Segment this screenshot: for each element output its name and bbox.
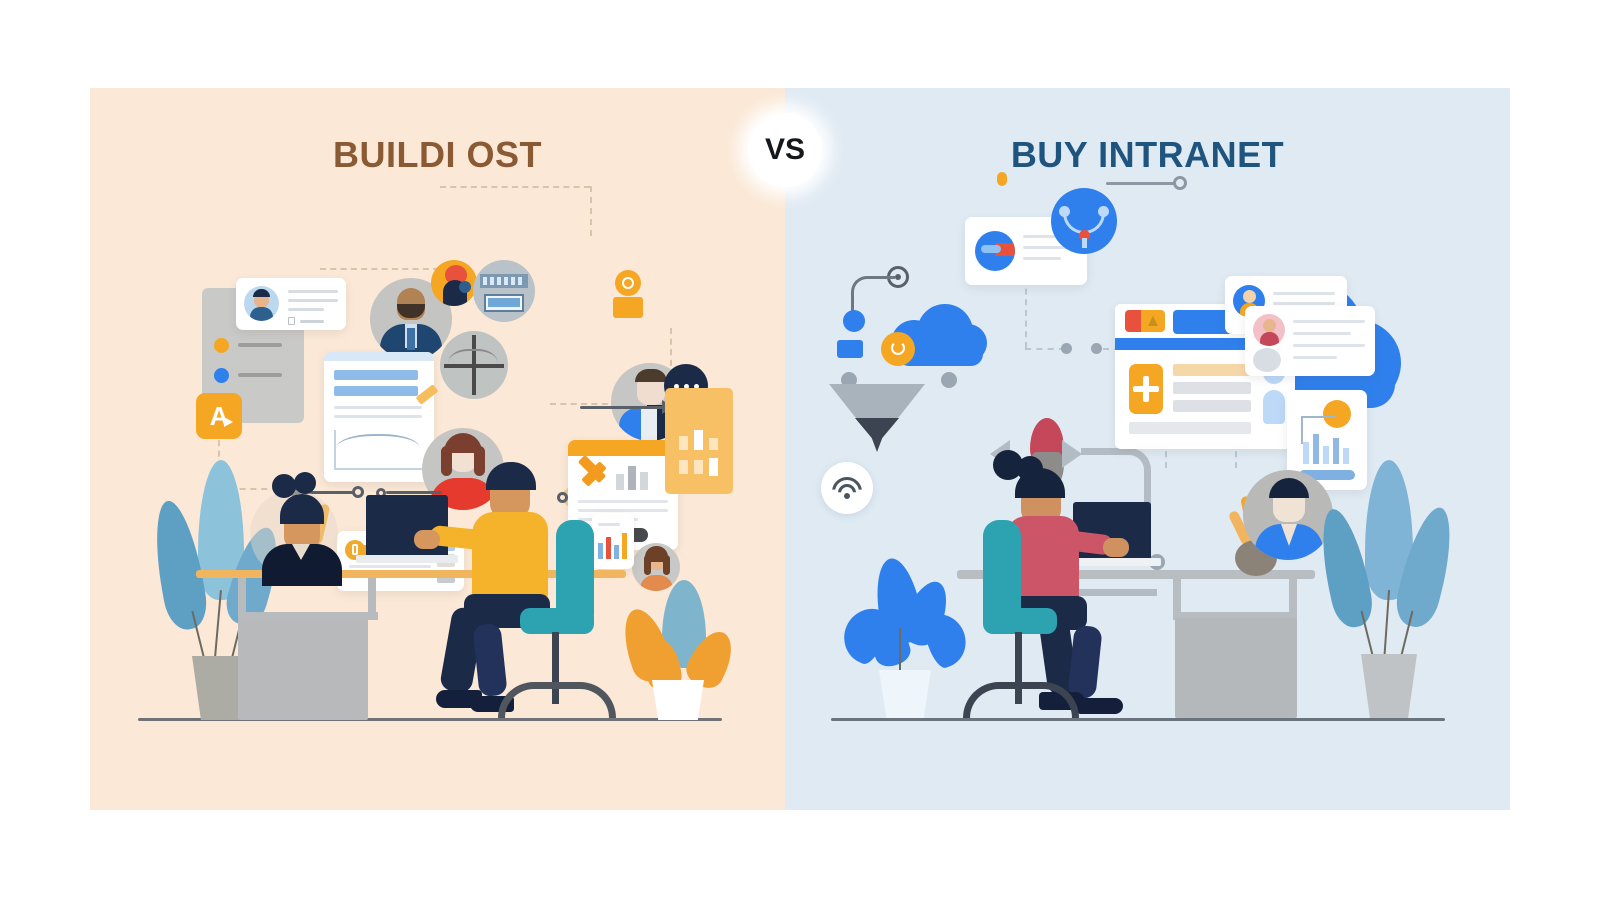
pencil-icon	[416, 384, 439, 405]
funnel-node-2	[941, 372, 957, 388]
panel-buy-right: BUY INTRANET	[785, 88, 1510, 810]
connector-line-top	[1106, 182, 1178, 185]
directory-line-2	[238, 373, 282, 377]
pie-chart-icon	[975, 231, 1015, 271]
avatar-red-hair	[431, 260, 477, 306]
funnel-icon	[829, 384, 925, 454]
standing-woman	[250, 466, 354, 586]
directory-line-1	[238, 343, 282, 347]
avatar-news-screen	[473, 260, 535, 322]
plus-tile	[1129, 364, 1163, 414]
directory-dot-blue	[214, 368, 229, 383]
avatar	[244, 286, 279, 321]
wifi-icon	[821, 462, 873, 514]
person-hand	[414, 530, 440, 549]
person-hand	[1103, 538, 1129, 557]
page-title-left: BUILDI OST	[90, 134, 785, 176]
vs-badge: VS	[748, 113, 822, 187]
desk-cabinet	[238, 618, 368, 720]
avatar	[1253, 314, 1285, 346]
person-leg	[472, 623, 507, 698]
desk-cabinet	[1175, 618, 1297, 718]
connector-dash-r2	[1025, 348, 1065, 350]
panel-build-left: BUILDI OST A	[90, 88, 785, 810]
lock-badge-icon	[611, 270, 645, 320]
arrow-line-left	[386, 491, 442, 494]
chair-seat	[983, 608, 1057, 634]
person-shoe	[1077, 698, 1123, 714]
connector-node-top	[1173, 176, 1187, 190]
person-hair-bun	[294, 472, 316, 494]
connector-dash-2	[440, 186, 590, 188]
chair-base	[498, 682, 616, 718]
person-hair-bun	[1017, 456, 1043, 482]
person-hair	[486, 462, 536, 490]
orange-leaf-plant-right	[618, 580, 728, 720]
gold-marker-icon	[997, 172, 1007, 186]
funnel-input-2	[937, 340, 963, 358]
plant-pot	[652, 680, 704, 720]
person-hair-bun	[272, 474, 296, 498]
connector-node-r1	[1061, 343, 1072, 354]
plant-pot	[879, 670, 931, 718]
connector-dash-3	[590, 186, 592, 236]
network-globe-icon	[1051, 188, 1117, 254]
orange-office-building	[665, 388, 733, 494]
blue-leaf-plant-left-r	[827, 558, 977, 718]
node-blue-dot	[843, 310, 865, 332]
plant-leaf	[919, 607, 973, 671]
translate-icon: A	[196, 393, 242, 439]
document-chart-card	[324, 352, 434, 482]
connector-dash-r1	[1025, 278, 1027, 348]
plant-pot	[1361, 654, 1417, 718]
contact-card-2	[1245, 306, 1375, 376]
profile-card	[236, 278, 346, 330]
sync-icon	[881, 332, 915, 366]
avatar-chart-icon	[440, 331, 508, 399]
blue-leaf-plant-right	[1313, 460, 1453, 718]
person-shirt	[472, 512, 548, 600]
connector-node-r2	[1091, 343, 1102, 354]
directory-dot-orange	[214, 338, 229, 353]
illustration-canvas: BUILDI OST A	[0, 0, 1600, 900]
avatar-placeholder	[1253, 348, 1281, 372]
funnel-input-1	[837, 340, 863, 358]
page-title-right: BUY INTRANET	[785, 134, 1510, 176]
chair-seat	[520, 608, 594, 634]
chair-base	[963, 682, 1079, 718]
file-icon	[288, 317, 295, 325]
arrow-to-avatar	[580, 406, 670, 409]
person-leg	[1067, 625, 1102, 700]
